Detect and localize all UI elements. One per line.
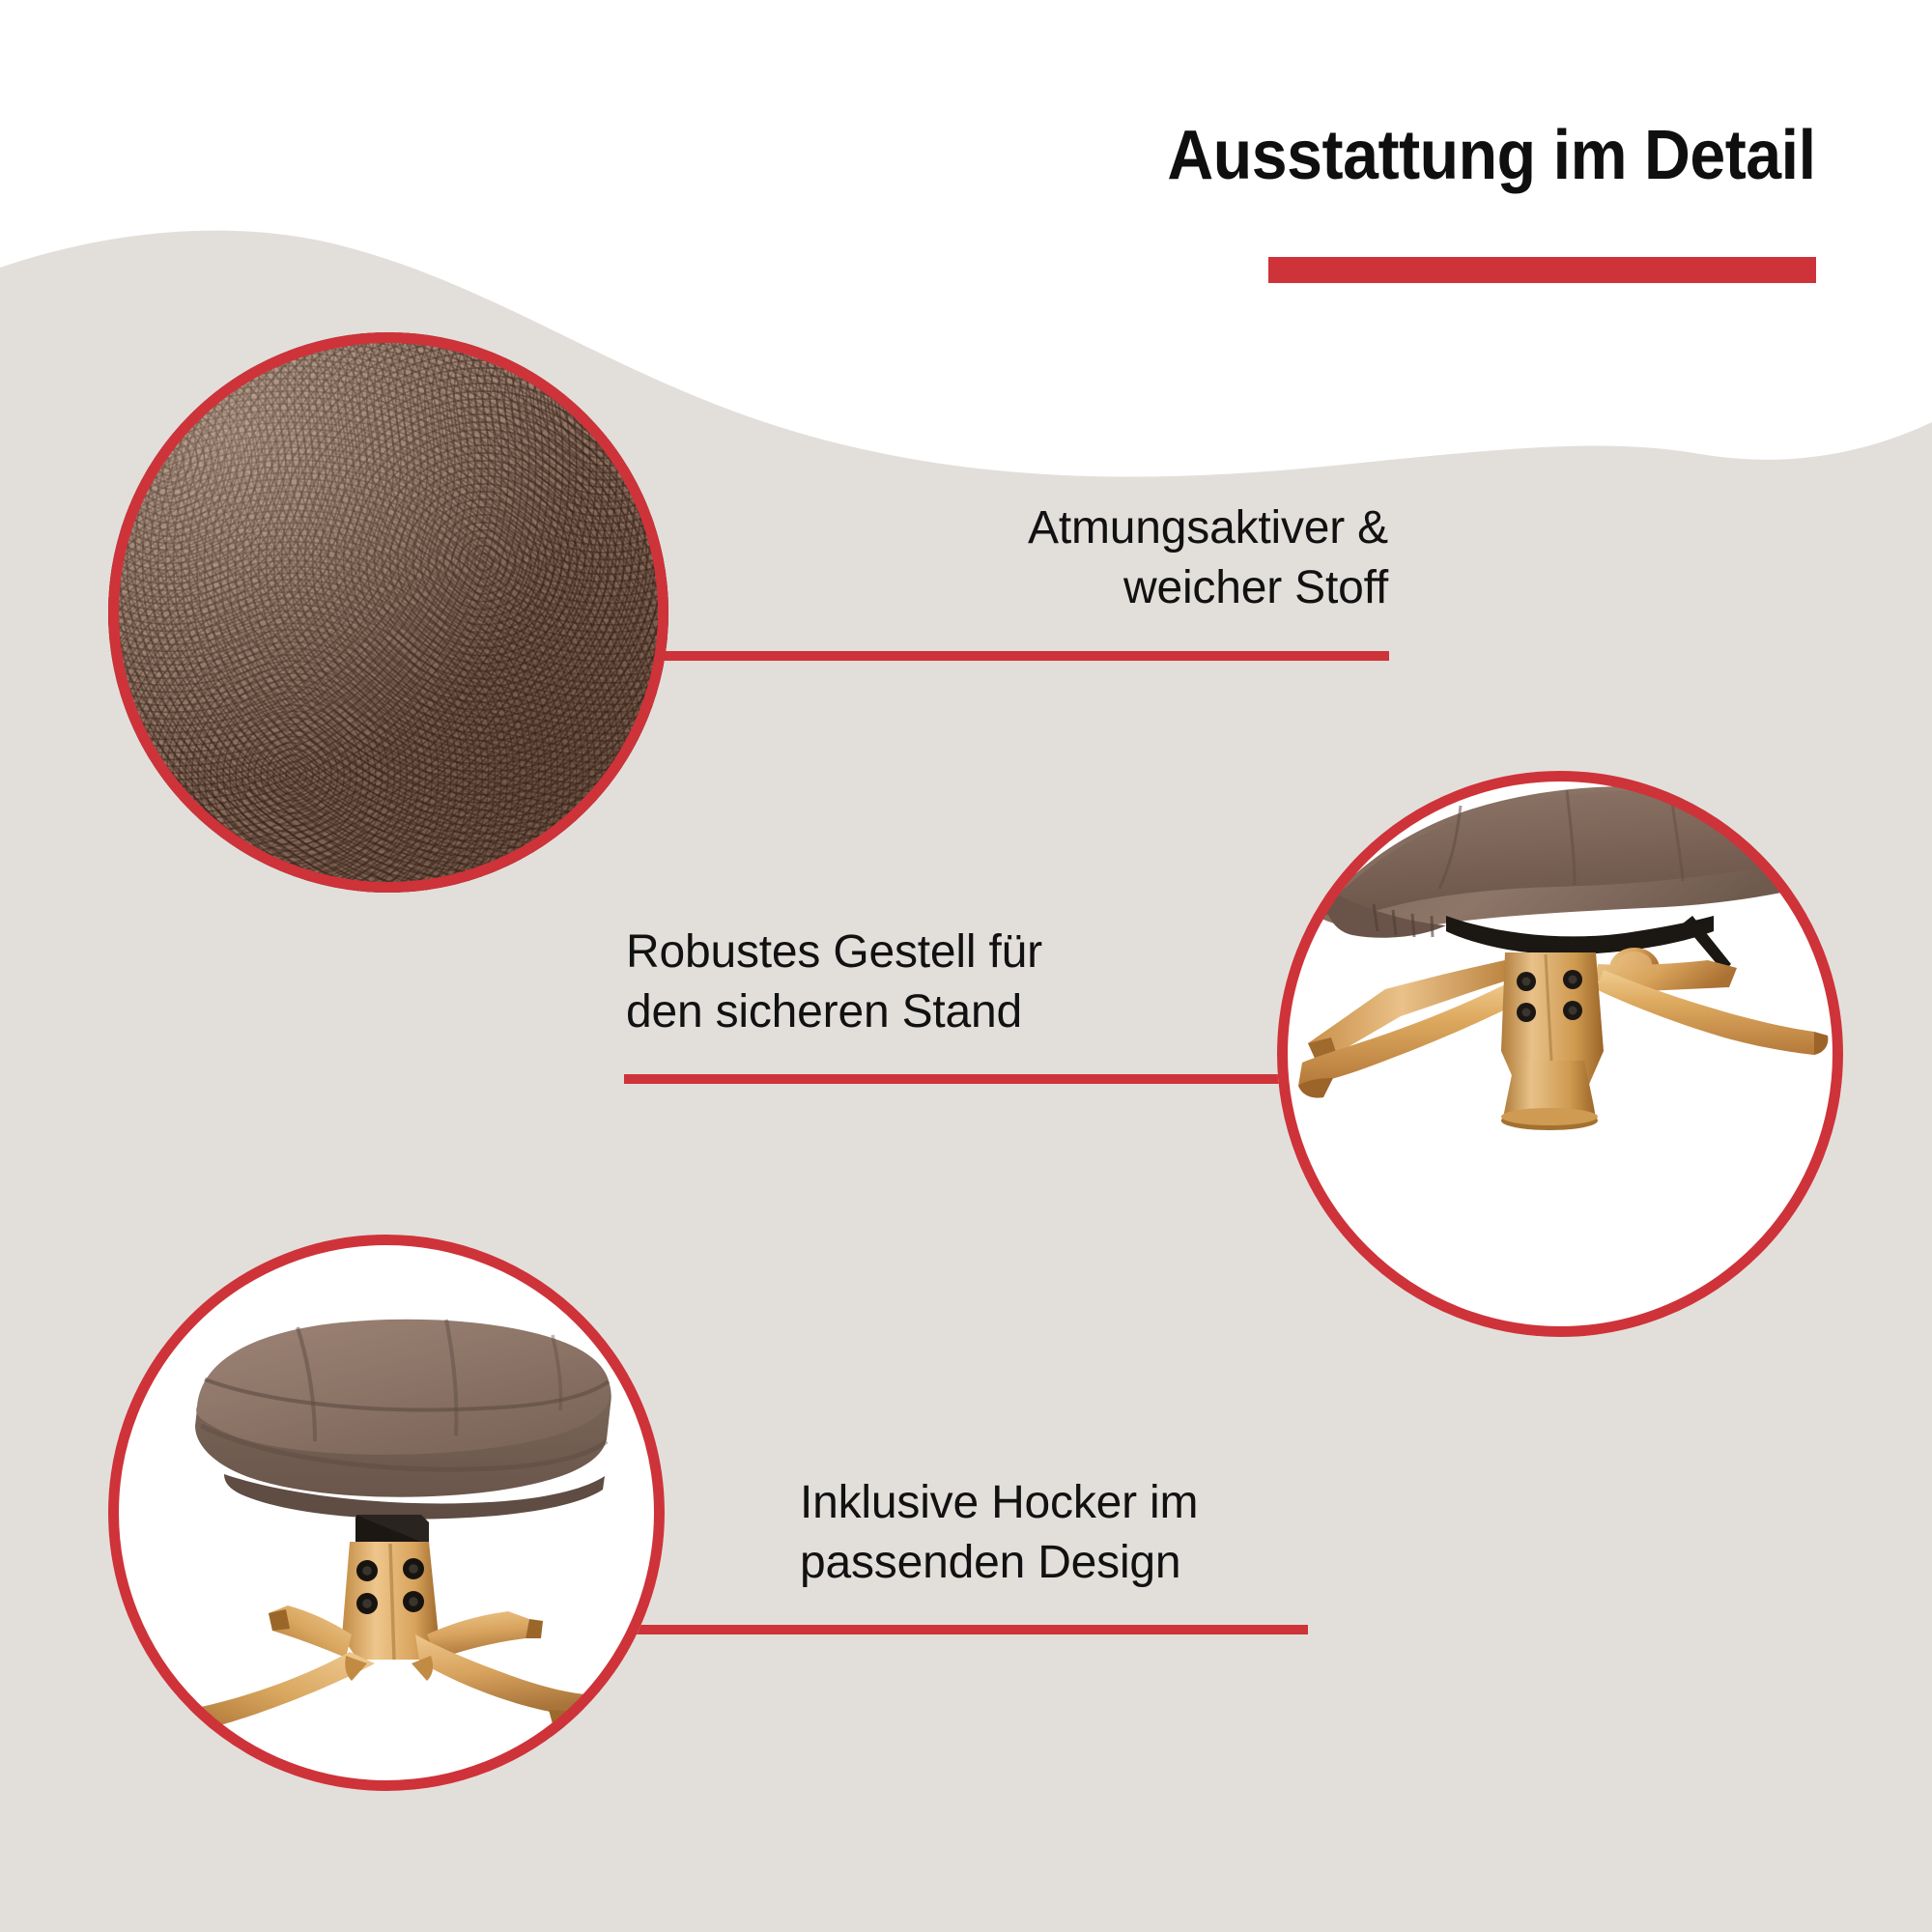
connector-line-frame: [624, 1074, 1298, 1084]
connector-line-ottoman: [620, 1625, 1308, 1634]
callout-label-fabric: Atmungsaktiver & weicher Stoff: [1028, 498, 1388, 619]
callout-label-frame: Robustes Gestell für den sicheren Stand: [626, 923, 1042, 1043]
ottoman-circle: [108, 1235, 665, 1791]
ottoman-illustration: [108, 1235, 665, 1791]
fabric-swatch-circle: [108, 332, 668, 893]
swivel-base-illustration: [1277, 771, 1843, 1337]
page-title: Ausstattung im Detail: [1168, 116, 1816, 195]
infographic-canvas: Ausstattung im Detail Atmungsaktiver & w…: [0, 0, 1932, 1932]
swivel-base-circle: [1277, 771, 1843, 1337]
fabric-texture: [108, 332, 668, 893]
title-underline-rule: [1268, 257, 1816, 283]
connector-line-fabric: [628, 651, 1389, 661]
callout-label-ottoman: Inklusive Hocker im passenden Design: [800, 1473, 1198, 1594]
